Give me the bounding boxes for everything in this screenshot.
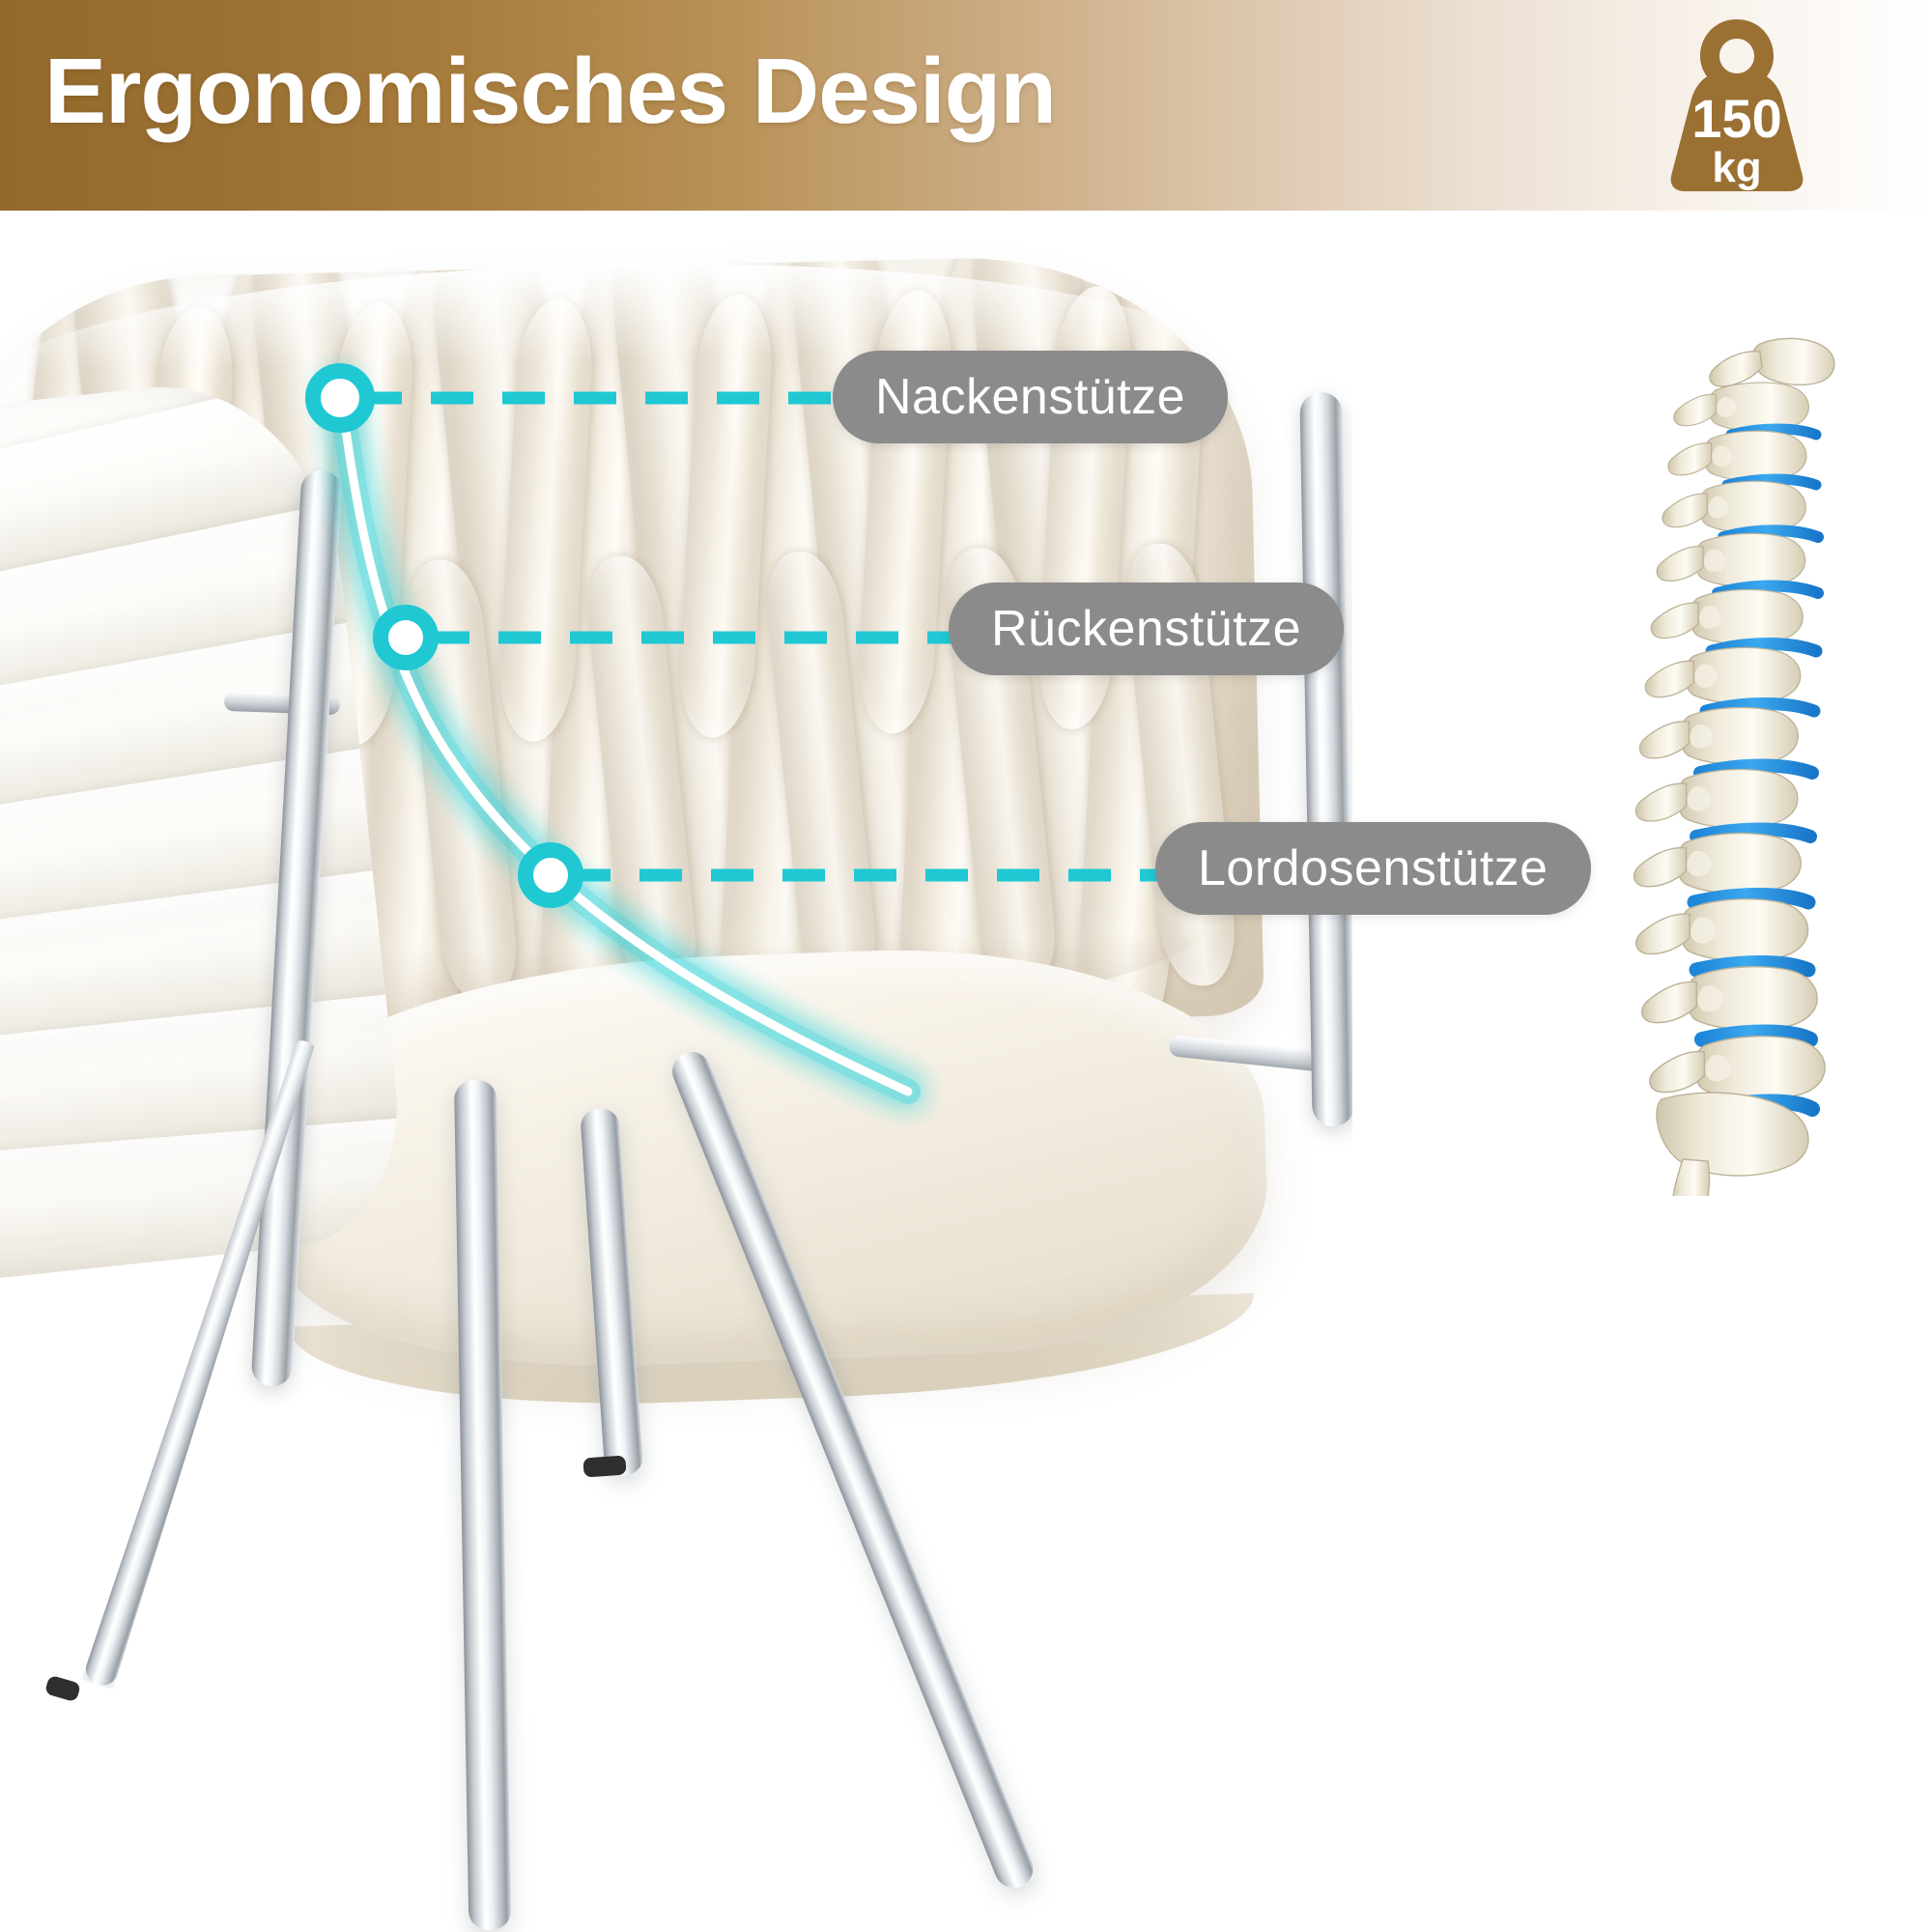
weight-value: 150	[1691, 88, 1781, 149]
infographic-canvas: Ergonomisches Design 150 kg	[0, 0, 1932, 1932]
callout-pill-lumbar-support[interactable]: Lordosenstütze	[1155, 822, 1591, 915]
weight-capacity-badge: 150 kg	[1660, 14, 1814, 193]
weight-kettlebell-icon: 150 kg	[1660, 14, 1814, 193]
page-title: Ergonomisches Design	[44, 41, 1056, 143]
header-banner: Ergonomisches Design 150 kg	[0, 0, 1932, 211]
chrome-post-right	[1299, 392, 1352, 1127]
callout-pill-back-support[interactable]: Rückenstütze	[949, 582, 1344, 675]
leg-foot-center	[582, 1455, 626, 1477]
product-photo	[0, 211, 1352, 1932]
spine-svg	[1615, 327, 1905, 1196]
callout-pill-neck-support[interactable]: Nackenstütze	[833, 351, 1228, 443]
leg-foot-front-left	[44, 1675, 81, 1703]
human-spine-illustration	[1615, 327, 1905, 1196]
weight-unit: kg	[1712, 144, 1761, 191]
vertebra-stack	[1634, 338, 1834, 1196]
